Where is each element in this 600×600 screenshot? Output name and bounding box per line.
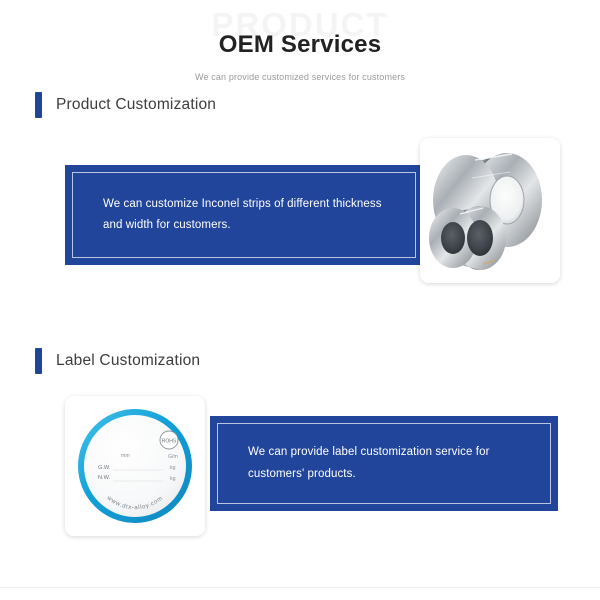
svg-text:kg: kg	[170, 476, 176, 482]
callout-product-customization: We can customize Inconel strips of diffe…	[65, 165, 423, 265]
section-title-text: Label Customization	[56, 352, 200, 370]
svg-text:mm: mm	[121, 453, 130, 459]
round-product-label-photo: ROHS mm G.W. N.W. G/m kg kg www.dtx-allo…	[65, 396, 205, 536]
accent-bar-icon	[35, 348, 42, 374]
bottom-divider	[0, 587, 600, 588]
svg-text:kg: kg	[170, 465, 176, 471]
section-product-customization: Product Customization We can customize I…	[0, 92, 600, 348]
svg-text:N.W.: N.W.	[98, 475, 111, 481]
rohs-badge-icon: ROHS	[160, 431, 178, 449]
section-heading-label-customization: Label Customization	[0, 348, 600, 374]
image-card-metal-coil[interactable]	[420, 138, 560, 283]
svg-text:G.W.: G.W.	[98, 465, 111, 471]
page-header: PRODUCT OEM Services We can provide cust…	[0, 0, 600, 92]
section-heading-product-customization: Product Customization	[0, 92, 600, 118]
page-title: OEM Services	[0, 30, 600, 60]
image-card-product-label[interactable]: ROHS mm G.W. N.W. G/m kg kg www.dtx-allo…	[65, 396, 205, 536]
svg-text:G/m: G/m	[168, 454, 178, 460]
callout-label-text: We can provide label customization servi…	[248, 442, 520, 485]
callout-label-customization: We can provide label customization servi…	[210, 416, 558, 511]
page-subtitle: We can provide customized services for c…	[0, 72, 600, 82]
oem-services-page: PRODUCT OEM Services We can provide cust…	[0, 0, 600, 600]
section-product-body: We can customize Inconel strips of diffe…	[0, 138, 600, 348]
callout-product-text: We can customize Inconel strips of diffe…	[103, 194, 385, 237]
accent-bar-icon	[35, 92, 42, 118]
metal-coil-photo	[420, 138, 560, 283]
section-label-body: ROHS mm G.W. N.W. G/m kg kg www.dtx-allo…	[0, 396, 600, 596]
callout-inner-border: We can provide label customization servi…	[217, 423, 551, 504]
svg-text:ROHS: ROHS	[162, 439, 177, 445]
callout-inner-border: We can customize Inconel strips of diffe…	[72, 172, 416, 258]
section-label-customization: Label Customization	[0, 348, 600, 596]
section-title-text: Product Customization	[56, 96, 216, 114]
